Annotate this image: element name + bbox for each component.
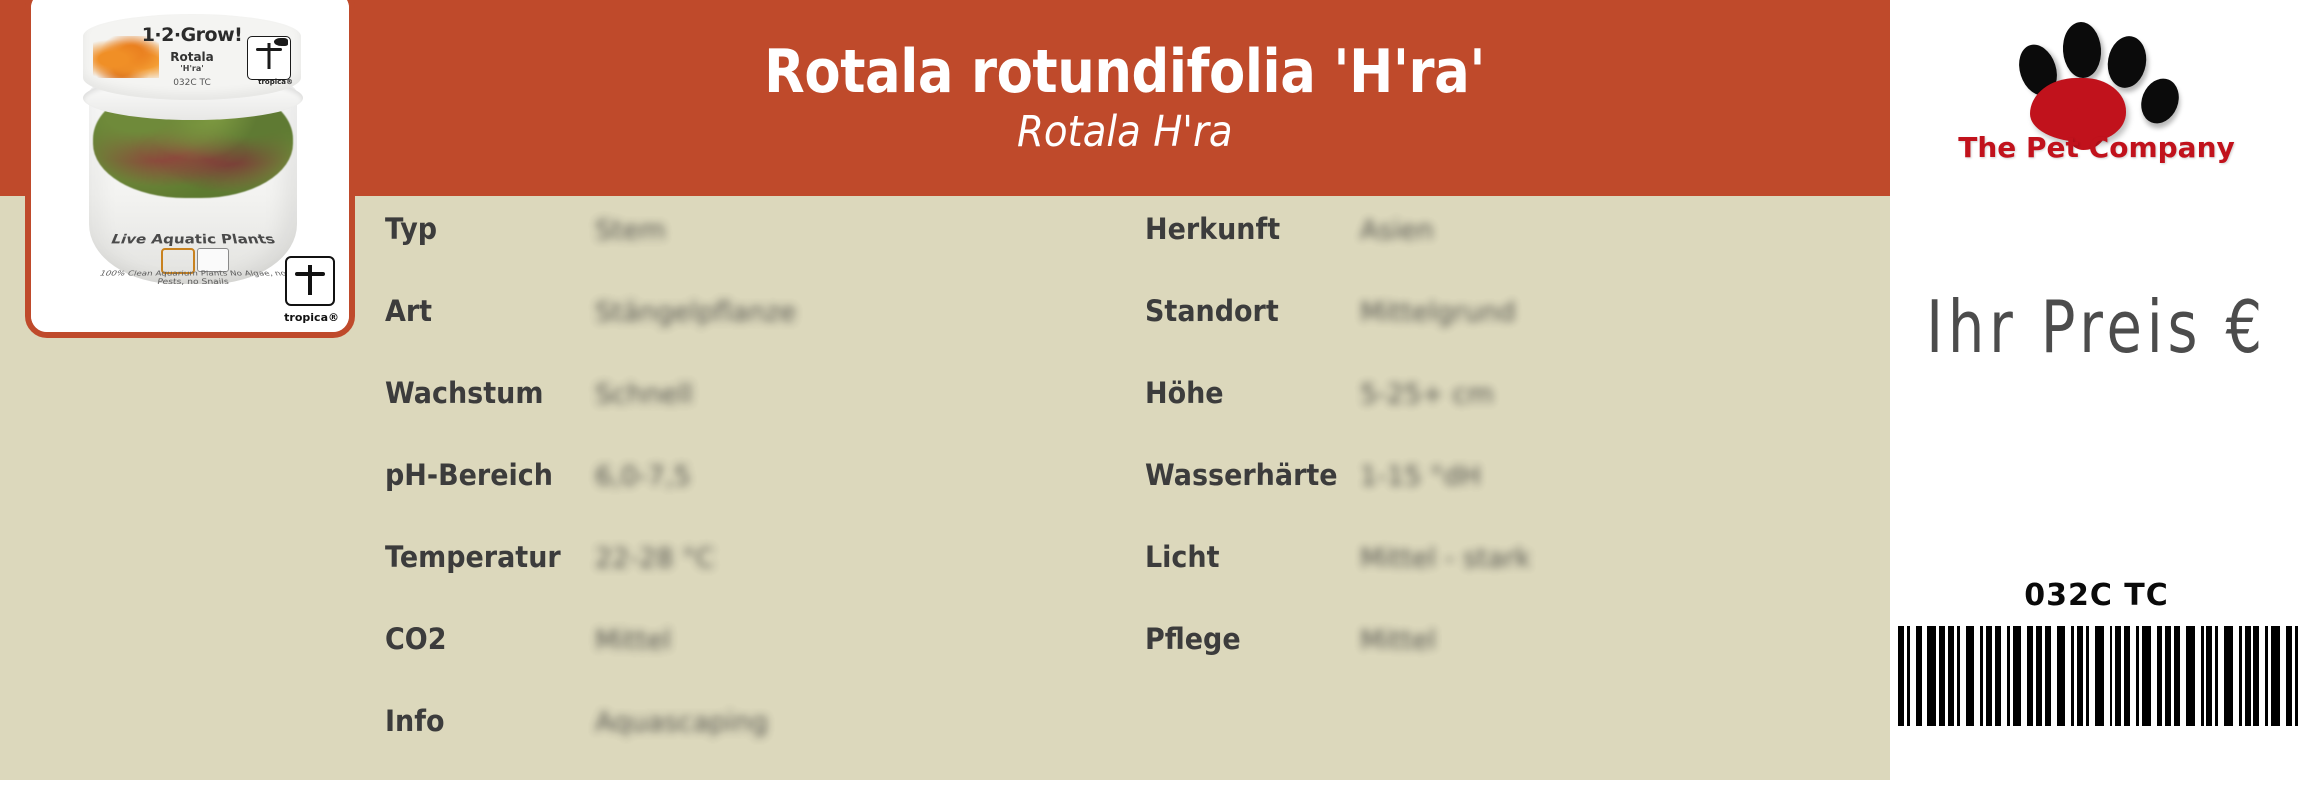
spec-value-art: Stängelpflanze (595, 297, 796, 328)
spec-label-ph-bereich: pH-Bereich (385, 458, 580, 492)
main-content-area: Rotala rotundifolia 'H'ra' Rotala H'ra t… (0, 0, 1890, 780)
spec-row-typ: Typ Stem (385, 212, 1145, 294)
spec-label-art: Art (385, 294, 580, 328)
spec-value-licht: Mittel - stark (1360, 543, 1531, 574)
spec-label-herkunft: Herkunft (1145, 212, 1345, 246)
spec-row-temperatur: Temperatur 22-28 °C (385, 540, 1145, 622)
label-sheet: Rotala rotundifolia 'H'ra' Rotala H'ra t… (0, 0, 2303, 780)
spec-label-wasserhaerte: Wasserhärte (1145, 458, 1345, 492)
spec-label-pflege: Pflege (1145, 622, 1345, 656)
spec-value-pflege: Mittel (1360, 625, 1436, 656)
spec-value-hoehe: 5-25+ cm (1360, 379, 1494, 410)
company-logo: The Pet Company (1890, 10, 2303, 210)
spec-row-hoehe: Höhe 5-25+ cm (1145, 376, 1845, 458)
spec-label-hoehe: Höhe (1145, 376, 1345, 410)
barcode-bar (2057, 626, 2066, 726)
cup-bottom-label: Live Aquatic Plants 100% Clean Aquarium … (93, 230, 293, 292)
product-photo: tropica® 1·2·Grow! Rotala 'H'ra' 032C TC… (31, 0, 349, 332)
spec-row-art: Art Stängelpflanze (385, 294, 1145, 376)
barcode-bar (2095, 626, 2104, 726)
spec-row-co2: CO2 Mittel (385, 622, 1145, 704)
spec-row-licht: Licht Mittel - stark (1145, 540, 1845, 622)
barcode-bar (1927, 626, 1936, 726)
spec-label-info: Info (385, 704, 580, 738)
grow-brand-line: 1·2·Grow! (83, 24, 301, 46)
title-block: Rotala rotundifolia 'H'ra' Rotala H'ra (360, 0, 1890, 196)
tropica-logo-large-icon (285, 256, 335, 306)
spec-label-wachstum: Wachstum (385, 376, 580, 410)
paw-print-icon (2012, 16, 2182, 142)
cup-plant-name: Rotala (83, 50, 301, 64)
product-photo-card: tropica® 1·2·Grow! Rotala 'H'ra' 032C TC… (25, 0, 355, 338)
spec-label-standort: Standort (1145, 294, 1345, 328)
company-name: The Pet Company (1890, 131, 2303, 164)
cup-tagline: Live Aquatic Plants (89, 232, 297, 247)
plant-cup-graphic: tropica® 1·2·Grow! Rotala 'H'ra' 032C TC… (31, 0, 349, 332)
paw-toe-icon (2061, 21, 2103, 80)
cup-top-label: tropica® 1·2·Grow! Rotala 'H'ra' 032C TC (83, 14, 301, 100)
barcode-bar (2271, 626, 2280, 726)
cup-cultivar-name: 'H'ra' (83, 64, 301, 73)
price-label: Ihr Preis € (1931, 272, 2261, 382)
spec-label-licht: Licht (1145, 540, 1345, 574)
paw-toe-icon (2134, 73, 2185, 129)
spec-row-pflege: Pflege Mittel (1145, 622, 1845, 704)
specification-table: Typ Stem Art Stängelpflanze Wachstum Sch… (385, 212, 1845, 786)
spec-label-temperatur: Temperatur (385, 540, 580, 574)
cup-clean-claim: 100% Clean Aquarium Plants No Algae, no … (88, 270, 298, 287)
barcode-bar (2224, 626, 2233, 726)
barcode-bar (1966, 626, 1975, 726)
spec-row-wasserhaerte: Wasserhärte 1-15 °dH (1145, 458, 1845, 540)
spec-value-wachstum: Schnell (595, 379, 693, 410)
spec-label-co2: CO2 (385, 622, 580, 656)
spec-value-co2: Mittel (595, 625, 671, 656)
recycle-badge-icon (197, 248, 229, 272)
spec-row-herkunft: Herkunft Asien (1145, 212, 1845, 294)
barcode-bar (2295, 626, 2298, 726)
barcode-bar (2013, 626, 2022, 726)
spec-row-standort: Standort Mittelgrund (1145, 294, 1845, 376)
paw-toe-icon (2103, 33, 2149, 91)
page-title: Rotala rotundifolia 'H'ra' (765, 41, 1486, 104)
spec-row-wachstum: Wachstum Schnell (385, 376, 1145, 458)
spec-value-wasserhaerte: 1-15 °dH (1360, 461, 1481, 492)
spec-value-typ: Stem (595, 215, 666, 246)
sku-code: 032C TC (1890, 578, 2303, 613)
spec-row-info: Info Aquascaping (385, 704, 1145, 786)
right-panel: The Pet Company Ihr Preis € 032C TC (1890, 0, 2303, 780)
barcode-bar (2186, 626, 2195, 726)
spec-value-info: Aquascaping (595, 707, 768, 738)
page-subtitle: Rotala H'ra (1017, 110, 1233, 155)
spec-value-ph-bereich: 6,0-7,5 (595, 461, 691, 492)
tropica-wordmark: tropica® (284, 311, 339, 324)
spec-value-standort: Mittelgrund (1360, 297, 1516, 328)
spec-value-temperatur: 22-28 °C (595, 543, 714, 574)
spec-column-right: Herkunft Asien Standort Mittelgrund Höhe… (1145, 212, 1845, 786)
spec-column-left: Typ Stem Art Stängelpflanze Wachstum Sch… (385, 212, 1145, 786)
barcode-bar (2142, 626, 2151, 726)
spec-row-ph-bereich: pH-Bereich 6,0-7,5 (385, 458, 1145, 540)
cup-product-code: 032C TC (83, 78, 301, 88)
spec-value-herkunft: Asien (1360, 215, 1434, 246)
barcode (1898, 626, 2298, 726)
spec-label-typ: Typ (385, 212, 580, 246)
